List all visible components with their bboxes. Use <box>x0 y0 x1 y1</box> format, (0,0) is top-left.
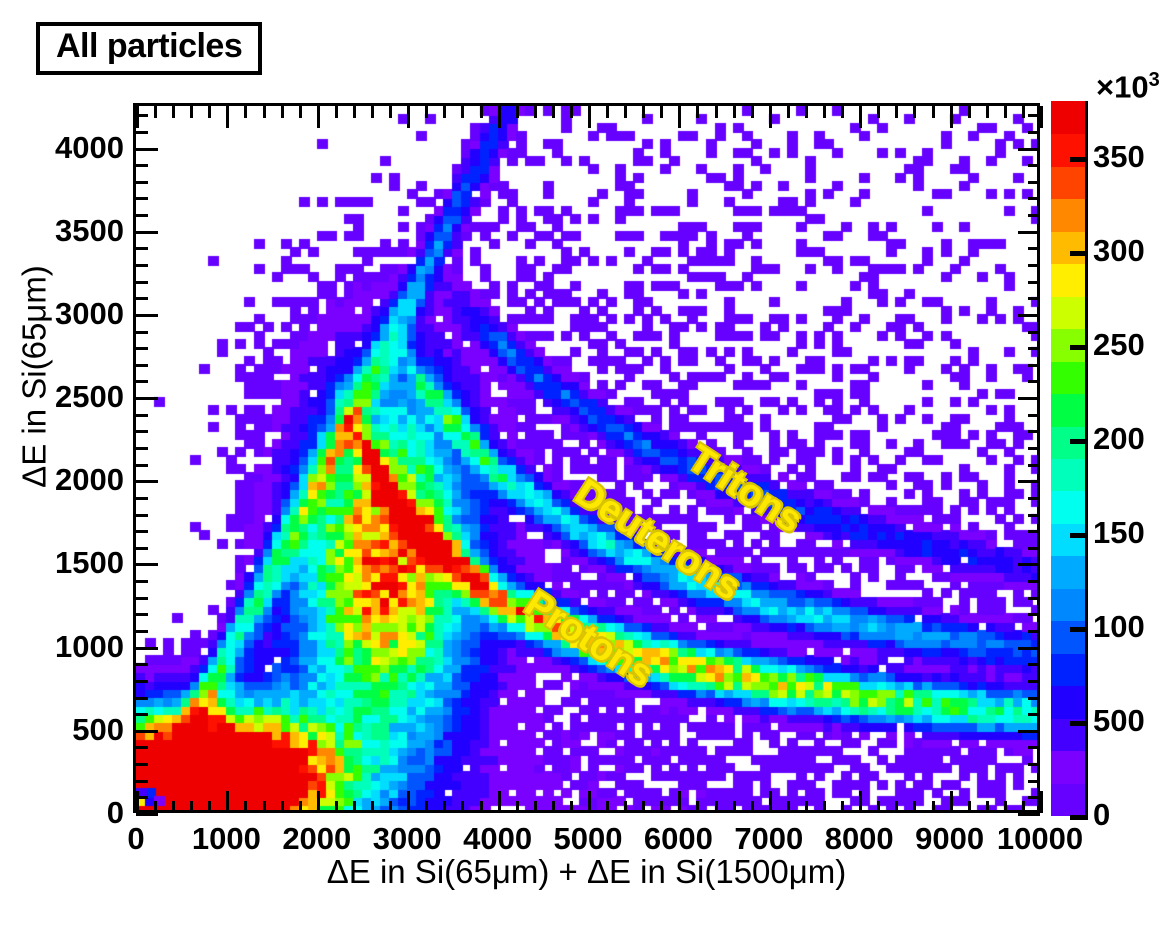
y-minor-tick <box>136 281 148 284</box>
x-minor-tick <box>606 801 609 813</box>
x-major-tick-top <box>226 106 229 128</box>
x-minor-tick-top <box>733 106 736 118</box>
x-minor-tick-top <box>389 106 392 118</box>
y-minor-tick-right <box>1028 713 1040 716</box>
y-minor-tick <box>136 530 148 533</box>
y-major-tick <box>136 480 158 483</box>
y-minor-tick-right <box>1028 514 1040 517</box>
y-minor-tick <box>136 497 148 500</box>
color-palette <box>1051 101 1085 815</box>
x-minor-tick <box>190 801 193 813</box>
x-minor-tick-top <box>516 106 519 118</box>
palette-exponent-prefix: ×10 <box>1096 69 1149 104</box>
palette-tick <box>1070 533 1088 538</box>
x-major-tick-top <box>588 106 591 128</box>
x-minor-tick-top <box>443 106 446 118</box>
y-major-tick <box>136 231 158 234</box>
y-major-tick-right <box>1018 231 1040 234</box>
x-minor-tick-top <box>715 106 718 118</box>
y-minor-tick-right <box>1028 114 1040 117</box>
y-minor-tick-right <box>1028 131 1040 134</box>
x-major-tick <box>769 791 772 813</box>
x-minor-tick <box>552 801 555 813</box>
x-minor-tick <box>877 801 880 813</box>
x-minor-tick-top <box>1022 106 1025 118</box>
x-major-tick <box>1040 791 1043 813</box>
x-minor-tick-top <box>552 106 555 118</box>
y-major-tick-right <box>1018 730 1040 733</box>
palette-band <box>1051 783 1085 816</box>
x-major-tick-top <box>1040 106 1043 128</box>
y-major-tick-right <box>1018 148 1040 151</box>
palette-band <box>1051 101 1085 134</box>
x-minor-tick-top <box>968 106 971 118</box>
x-minor-tick-top <box>932 106 935 118</box>
x-minor-tick <box>986 801 989 813</box>
page-title: All particles <box>56 27 242 65</box>
x-major-tick-top <box>407 106 410 128</box>
x-minor-tick <box>1004 801 1007 813</box>
x-minor-tick <box>534 801 537 813</box>
x-major-tick <box>317 791 320 813</box>
y-minor-tick-right <box>1028 214 1040 217</box>
x-minor-tick-top <box>263 106 266 118</box>
y-major-tick <box>136 647 158 650</box>
y-major-tick <box>136 813 158 816</box>
palette-tick <box>1070 815 1088 820</box>
palette-tick-label: 500 <box>1093 705 1145 736</box>
x-minor-tick <box>516 801 519 813</box>
palette-band <box>1051 685 1085 718</box>
y-major-tick <box>136 730 158 733</box>
x-minor-tick-top <box>353 106 356 118</box>
x-major-tick <box>226 791 229 813</box>
y-minor-tick <box>136 247 148 250</box>
y-minor-tick-right <box>1028 613 1040 616</box>
x-minor-tick-top <box>787 106 790 118</box>
palette-tick <box>1070 251 1088 256</box>
x-minor-tick <box>244 801 247 813</box>
x-minor-tick <box>461 801 464 813</box>
title-box: All particles <box>36 22 262 75</box>
y-minor-tick-right <box>1028 547 1040 550</box>
palette-band <box>1051 231 1085 264</box>
palette-tick-label: 100 <box>1093 611 1145 642</box>
y-major-tick-right <box>1018 480 1040 483</box>
y-minor-tick <box>136 547 148 550</box>
y-minor-tick <box>136 597 148 600</box>
y-minor-tick-right <box>1028 780 1040 783</box>
x-minor-tick-top <box>172 106 175 118</box>
y-minor-tick-right <box>1028 364 1040 367</box>
y-axis-title: ΔE in Si(65μm) <box>18 107 51 647</box>
y-minor-tick <box>136 164 148 167</box>
y-minor-tick <box>136 514 148 517</box>
x-major-tick-top <box>317 106 320 128</box>
x-minor-tick <box>895 801 898 813</box>
x-minor-tick <box>172 801 175 813</box>
x-minor-tick <box>642 801 645 813</box>
x-minor-tick <box>823 801 826 813</box>
x-major-tick-top <box>678 106 681 128</box>
y-minor-tick <box>136 763 148 766</box>
x-minor-tick-top <box>660 106 663 118</box>
x-minor-tick <box>371 801 374 813</box>
y-minor-tick <box>136 331 148 334</box>
y-minor-tick <box>136 297 148 300</box>
x-minor-tick-top <box>190 106 193 118</box>
y-minor-tick <box>136 214 148 217</box>
palette-tick-label: 200 <box>1093 423 1145 454</box>
x-minor-tick-top <box>371 106 374 118</box>
x-minor-tick-top <box>805 106 808 118</box>
y-minor-tick <box>136 380 148 383</box>
y-minor-tick-right <box>1028 331 1040 334</box>
y-minor-tick <box>136 663 148 666</box>
palette-band <box>1051 361 1085 394</box>
x-minor-tick-top <box>696 106 699 118</box>
y-minor-tick <box>136 414 148 417</box>
x-minor-tick <box>660 801 663 813</box>
x-minor-tick-top <box>913 106 916 118</box>
palette-band <box>1051 296 1085 329</box>
x-minor-tick-top <box>624 106 627 118</box>
y-minor-tick-right <box>1028 430 1040 433</box>
x-minor-tick <box>968 801 971 813</box>
y-minor-tick-right <box>1028 164 1040 167</box>
y-minor-tick <box>136 430 148 433</box>
y-minor-tick <box>136 613 148 616</box>
x-minor-tick-top <box>877 106 880 118</box>
y-minor-tick-right <box>1028 197 1040 200</box>
y-minor-tick-right <box>1028 414 1040 417</box>
palette-band <box>1051 198 1085 231</box>
y-minor-tick-right <box>1028 663 1040 666</box>
x-major-tick <box>407 791 410 813</box>
y-minor-tick <box>136 580 148 583</box>
x-minor-tick-top <box>841 106 844 118</box>
x-axis-title: ΔE in Si(65μm) + ΔE in Si(1500μm) <box>133 855 1040 888</box>
y-minor-tick <box>136 697 148 700</box>
x-minor-tick <box>353 801 356 813</box>
x-minor-tick-top <box>570 106 573 118</box>
y-minor-tick-right <box>1028 281 1040 284</box>
x-minor-tick <box>281 801 284 813</box>
y-minor-tick-right <box>1028 347 1040 350</box>
palette-band <box>1051 458 1085 491</box>
x-minor-tick-top <box>335 106 338 118</box>
palette-exponent: ×103 <box>1096 70 1160 102</box>
x-minor-tick-top <box>642 106 645 118</box>
x-minor-tick-top <box>895 106 898 118</box>
y-major-tick-right <box>1018 397 1040 400</box>
x-major-tick-top <box>950 106 953 128</box>
y-major-tick-right <box>1018 314 1040 317</box>
x-minor-tick <box>480 801 483 813</box>
y-major-tick-right <box>1018 813 1040 816</box>
y-minor-tick <box>136 680 148 683</box>
palette-tick-label: 350 <box>1093 141 1145 172</box>
y-major-tick <box>136 563 158 566</box>
x-minor-tick <box>841 801 844 813</box>
x-major-tick-top <box>498 106 501 128</box>
x-minor-tick-top <box>461 106 464 118</box>
y-minor-tick-right <box>1028 680 1040 683</box>
palette-band <box>1051 653 1085 686</box>
y-major-tick <box>136 314 158 317</box>
x-minor-tick-top <box>208 106 211 118</box>
x-minor-tick-top <box>823 106 826 118</box>
x-minor-tick <box>913 801 916 813</box>
x-minor-tick <box>570 801 573 813</box>
palette-band <box>1051 393 1085 426</box>
y-minor-tick-right <box>1028 380 1040 383</box>
palette-tick <box>1070 627 1088 632</box>
palette-band <box>1051 555 1085 588</box>
y-minor-tick-right <box>1028 530 1040 533</box>
x-minor-tick <box>751 801 754 813</box>
x-minor-tick-top <box>154 106 157 118</box>
palette-exponent-value: 3 <box>1149 69 1160 91</box>
y-minor-tick-right <box>1028 580 1040 583</box>
palette-band <box>1051 620 1085 653</box>
y-minor-tick <box>136 630 148 633</box>
x-minor-tick <box>443 801 446 813</box>
palette-tick <box>1070 157 1088 162</box>
x-minor-tick-top <box>244 106 247 118</box>
x-major-tick <box>498 791 501 813</box>
y-minor-tick-right <box>1028 796 1040 799</box>
y-minor-tick-right <box>1028 763 1040 766</box>
x-minor-tick <box>715 801 718 813</box>
y-minor-tick-right <box>1028 247 1040 250</box>
y-minor-tick-right <box>1028 597 1040 600</box>
x-minor-tick <box>1022 801 1025 813</box>
y-minor-tick <box>136 347 148 350</box>
y-minor-tick <box>136 464 148 467</box>
x-minor-tick <box>696 801 699 813</box>
x-minor-tick <box>624 801 627 813</box>
palette-band <box>1051 750 1085 783</box>
palette-tick-label: 150 <box>1093 517 1145 548</box>
x-minor-tick <box>208 801 211 813</box>
y-minor-tick-right <box>1028 264 1040 267</box>
y-tick-label: 500 <box>0 714 124 745</box>
palette-tick-label: 250 <box>1093 329 1145 360</box>
x-minor-tick <box>154 801 157 813</box>
y-minor-tick <box>136 114 148 117</box>
palette-tick-label: 300 <box>1093 235 1145 266</box>
palette-band <box>1051 263 1085 296</box>
palette-tick <box>1070 439 1088 444</box>
x-minor-tick-top <box>281 106 284 118</box>
x-major-tick <box>136 791 139 813</box>
x-major-tick <box>950 791 953 813</box>
x-minor-tick-top <box>480 106 483 118</box>
x-minor-tick <box>733 801 736 813</box>
y-major-tick-right <box>1018 563 1040 566</box>
y-minor-tick <box>136 181 148 184</box>
x-major-tick <box>588 791 591 813</box>
x-major-tick-top <box>136 106 139 128</box>
palette-tick <box>1070 721 1088 726</box>
x-major-tick-top <box>859 106 862 128</box>
x-minor-tick <box>299 801 302 813</box>
y-minor-tick <box>136 796 148 799</box>
x-minor-tick-top <box>1004 106 1007 118</box>
x-minor-tick <box>805 801 808 813</box>
x-major-tick <box>859 791 862 813</box>
palette-band <box>1051 166 1085 199</box>
palette-tick-label: 0 <box>1093 799 1110 830</box>
x-minor-tick-top <box>606 106 609 118</box>
y-major-tick <box>136 397 158 400</box>
y-minor-tick-right <box>1028 697 1040 700</box>
y-minor-tick-right <box>1028 447 1040 450</box>
x-minor-tick-top <box>534 106 537 118</box>
palette-band <box>1051 523 1085 556</box>
y-minor-tick-right <box>1028 497 1040 500</box>
x-major-tick-top <box>769 106 772 128</box>
y-minor-tick <box>136 364 148 367</box>
y-major-tick <box>136 148 158 151</box>
y-minor-tick-right <box>1028 464 1040 467</box>
x-minor-tick-top <box>299 106 302 118</box>
x-minor-tick-top <box>425 106 428 118</box>
x-minor-tick <box>425 801 428 813</box>
y-minor-tick-right <box>1028 630 1040 633</box>
palette-band <box>1051 490 1085 523</box>
x-major-tick <box>678 791 681 813</box>
y-minor-tick <box>136 746 148 749</box>
y-minor-tick <box>136 131 148 134</box>
palette-tick <box>1070 345 1088 350</box>
x-minor-tick-top <box>986 106 989 118</box>
y-minor-tick-right <box>1028 297 1040 300</box>
x-minor-tick <box>389 801 392 813</box>
y-minor-tick <box>136 264 148 267</box>
x-minor-tick <box>787 801 790 813</box>
y-minor-tick-right <box>1028 746 1040 749</box>
palette-axis-line <box>1085 101 1088 815</box>
palette-band <box>1051 588 1085 621</box>
x-minor-tick <box>263 801 266 813</box>
y-major-tick-right <box>1018 647 1040 650</box>
y-minor-tick <box>136 780 148 783</box>
y-minor-tick-right <box>1028 181 1040 184</box>
y-minor-tick <box>136 713 148 716</box>
histogram-canvas <box>136 106 1040 813</box>
y-minor-tick <box>136 197 148 200</box>
y-minor-tick <box>136 447 148 450</box>
x-minor-tick <box>932 801 935 813</box>
x-minor-tick-top <box>751 106 754 118</box>
x-minor-tick <box>335 801 338 813</box>
